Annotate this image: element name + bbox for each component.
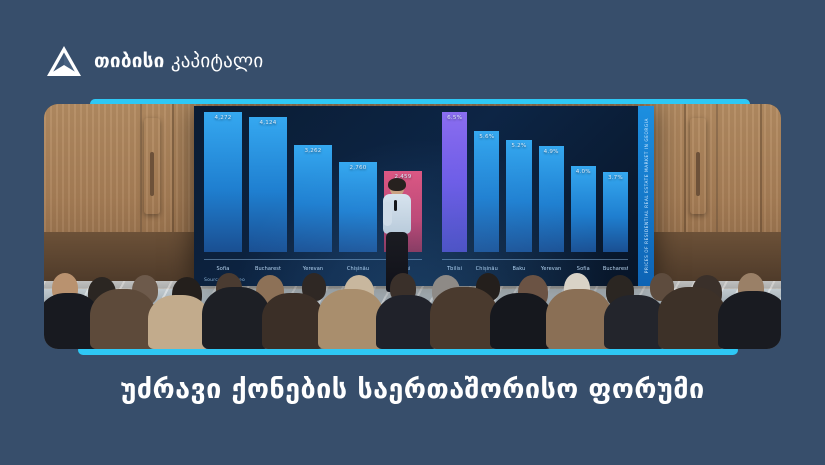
bar-column: 4.0% bbox=[571, 112, 596, 252]
bar-value-label: 5.2% bbox=[506, 143, 531, 149]
pilaster-slot bbox=[696, 152, 700, 196]
bar: 5.6% bbox=[474, 131, 499, 252]
bar: 4,124 bbox=[249, 117, 287, 252]
wall-pilaster bbox=[690, 118, 706, 214]
brand-name: თიბისი კაპიტალი bbox=[94, 52, 263, 71]
audience-silhouette bbox=[376, 295, 438, 349]
bar-value-label: 3,262 bbox=[294, 148, 332, 154]
bar-column: 5.2% bbox=[506, 112, 531, 252]
bar-highlighted: 6.5% bbox=[442, 112, 467, 252]
brand-name-light: კაპიტალი bbox=[171, 50, 264, 72]
bar-value-label: 6.5% bbox=[442, 115, 467, 121]
bar-value-label: 4.0% bbox=[571, 169, 596, 175]
bar-value-label: 5.6% bbox=[474, 134, 499, 140]
brand-name-bold: თიბისი bbox=[94, 50, 165, 72]
bar-column: 4,272 bbox=[204, 112, 242, 252]
audience-silhouette bbox=[430, 287, 498, 349]
bar: 2,760 bbox=[339, 162, 377, 252]
microphone-icon bbox=[394, 200, 397, 211]
bar: 5.2% bbox=[506, 140, 531, 252]
wall-pilaster bbox=[144, 118, 160, 214]
audience bbox=[44, 253, 781, 349]
bar: 4,272 bbox=[204, 112, 242, 252]
audience-silhouette bbox=[490, 293, 552, 349]
page-title: უძრავი ქონების საერთაშორისო ფორუმი bbox=[0, 374, 825, 405]
bar-column: 4,124 bbox=[249, 112, 287, 252]
bar-value-label: 4,124 bbox=[249, 120, 287, 126]
speaker-arm bbox=[383, 202, 392, 226]
bar: 3.7% bbox=[603, 172, 628, 252]
speaker-hair bbox=[388, 178, 406, 191]
bar-chart-yields: 6.5% 5.6% 5.2% bbox=[442, 112, 628, 252]
slide-banner-text: PRICES OF RESIDENTIAL REAL ESTATE MARKET… bbox=[644, 118, 649, 273]
audience-silhouette bbox=[718, 291, 781, 349]
audience-silhouette bbox=[202, 287, 270, 349]
bar-column: 5.6% bbox=[474, 112, 499, 252]
bar-group: 6.5% 5.6% 5.2% bbox=[442, 112, 628, 252]
audience-silhouette bbox=[604, 295, 666, 349]
audience-silhouette bbox=[148, 295, 210, 349]
bar: 4.0% bbox=[571, 166, 596, 252]
brand-lockup: თიბისი კაპიტალი bbox=[46, 42, 263, 80]
audience-silhouette bbox=[658, 287, 726, 349]
bar-value-label: 4,272 bbox=[204, 115, 242, 121]
pilaster-slot bbox=[150, 152, 154, 196]
bar: 4.9% bbox=[539, 146, 564, 252]
bar-column: 3,262 bbox=[294, 112, 332, 252]
audience-silhouette bbox=[546, 289, 612, 349]
bar-column: 3.7% bbox=[603, 112, 628, 252]
audience-silhouette bbox=[262, 293, 324, 349]
bar-value-label: 2,760 bbox=[339, 165, 377, 171]
tbc-triangle-logo-icon bbox=[46, 45, 82, 77]
bar-value-label: 4.9% bbox=[539, 149, 564, 155]
bar: 3,262 bbox=[294, 145, 332, 252]
event-photo: 4,272 4,124 3,262 bbox=[44, 104, 781, 349]
audience-silhouette bbox=[318, 289, 384, 349]
bar-column: 4.9% bbox=[539, 112, 564, 252]
bar-value-label: 3.7% bbox=[603, 175, 628, 181]
audience-silhouette bbox=[90, 289, 156, 349]
bar-column: 2,760 bbox=[339, 112, 377, 252]
bar-column: 6.5% bbox=[442, 112, 467, 252]
